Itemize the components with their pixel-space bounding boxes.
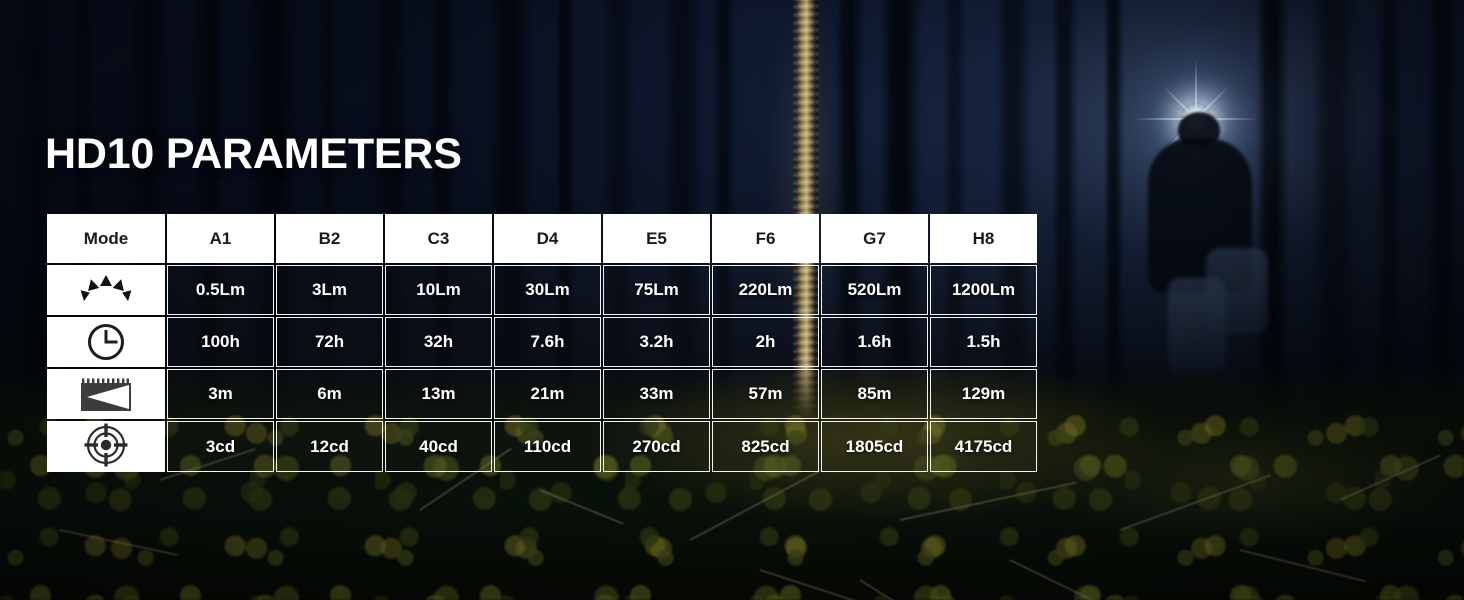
cell-intensity-a1: 3cd xyxy=(167,421,274,472)
clock-icon xyxy=(47,317,165,367)
cell-intensity-b2: 12cd xyxy=(276,421,383,472)
column-header-e5: E5 xyxy=(603,214,710,263)
cell-distance-g7: 85m xyxy=(821,369,928,419)
cell-lumens-g7: 520Lm xyxy=(821,265,928,315)
column-header-f6: F6 xyxy=(712,214,819,263)
target-crosshair-icon xyxy=(47,420,165,471)
cell-runtime-e5: 3.2h xyxy=(603,317,710,367)
parameters-table: Mode A1 B2 C3 D4 E5 F6 G7 H8 xyxy=(45,212,1039,474)
row-icon-cell-intensity xyxy=(47,421,165,472)
cell-distance-e5: 33m xyxy=(603,369,710,419)
cell-lumens-e5: 75Lm xyxy=(603,265,710,315)
cell-lumens-b2: 3Lm xyxy=(276,265,383,315)
cell-distance-f6: 57m xyxy=(712,369,819,419)
cell-intensity-d4: 110cd xyxy=(494,421,601,472)
cell-distance-d4: 21m xyxy=(494,369,601,419)
row-icon-cell-lumens xyxy=(47,265,165,315)
cell-lumens-f6: 220Lm xyxy=(712,265,819,315)
page-title: HD10 PARAMETERS xyxy=(45,133,462,176)
column-header-b2: B2 xyxy=(276,214,383,263)
cell-intensity-h8: 4175cd xyxy=(930,421,1037,472)
cell-runtime-b2: 72h xyxy=(276,317,383,367)
row-icon-cell-runtime xyxy=(47,317,165,367)
table-row: 100h 72h 32h 7.6h 3.2h 2h 1.6h 1.5h xyxy=(47,317,1037,367)
cell-runtime-d4: 7.6h xyxy=(494,317,601,367)
table-row: 3cd 12cd 40cd 110cd 270cd 825cd 1805cd 4… xyxy=(47,421,1037,472)
cell-runtime-c3: 32h xyxy=(385,317,492,367)
cell-intensity-c3: 40cd xyxy=(385,421,492,472)
cell-lumens-d4: 30Lm xyxy=(494,265,601,315)
cell-lumens-a1: 0.5Lm xyxy=(167,265,274,315)
cell-runtime-g7: 1.6h xyxy=(821,317,928,367)
column-header-c3: C3 xyxy=(385,214,492,263)
cell-lumens-c3: 10Lm xyxy=(385,265,492,315)
cell-distance-a1: 3m xyxy=(167,369,274,419)
column-header-a1: A1 xyxy=(167,214,274,263)
cell-runtime-h8: 1.5h xyxy=(930,317,1037,367)
beam-distance-ruler-icon xyxy=(47,369,165,419)
cell-intensity-f6: 825cd xyxy=(712,421,819,472)
row-icon-cell-distance xyxy=(47,369,165,419)
cell-distance-b2: 6m xyxy=(276,369,383,419)
column-header-h8: H8 xyxy=(930,214,1037,263)
cell-runtime-a1: 100h xyxy=(167,317,274,367)
cell-intensity-g7: 1805cd xyxy=(821,421,928,472)
content-layer: HD10 PARAMETERS Mode A1 B2 C3 D4 E5 F6 G… xyxy=(0,0,1464,600)
cell-lumens-h8: 1200Lm xyxy=(930,265,1037,315)
cell-runtime-f6: 2h xyxy=(712,317,819,367)
brightness-rays-icon xyxy=(47,265,165,315)
cell-distance-c3: 13m xyxy=(385,369,492,419)
column-header-d4: D4 xyxy=(494,214,601,263)
column-header-g7: G7 xyxy=(821,214,928,263)
column-header-mode: Mode xyxy=(47,214,165,263)
cell-intensity-e5: 270cd xyxy=(603,421,710,472)
table-row: 3m 6m 13m 21m 33m 57m 85m 129m xyxy=(47,369,1037,419)
table-header-row: Mode A1 B2 C3 D4 E5 F6 G7 H8 xyxy=(47,214,1037,263)
table-row: 0.5Lm 3Lm 10Lm 30Lm 75Lm 220Lm 520Lm 120… xyxy=(47,265,1037,315)
cell-distance-h8: 129m xyxy=(930,369,1037,419)
